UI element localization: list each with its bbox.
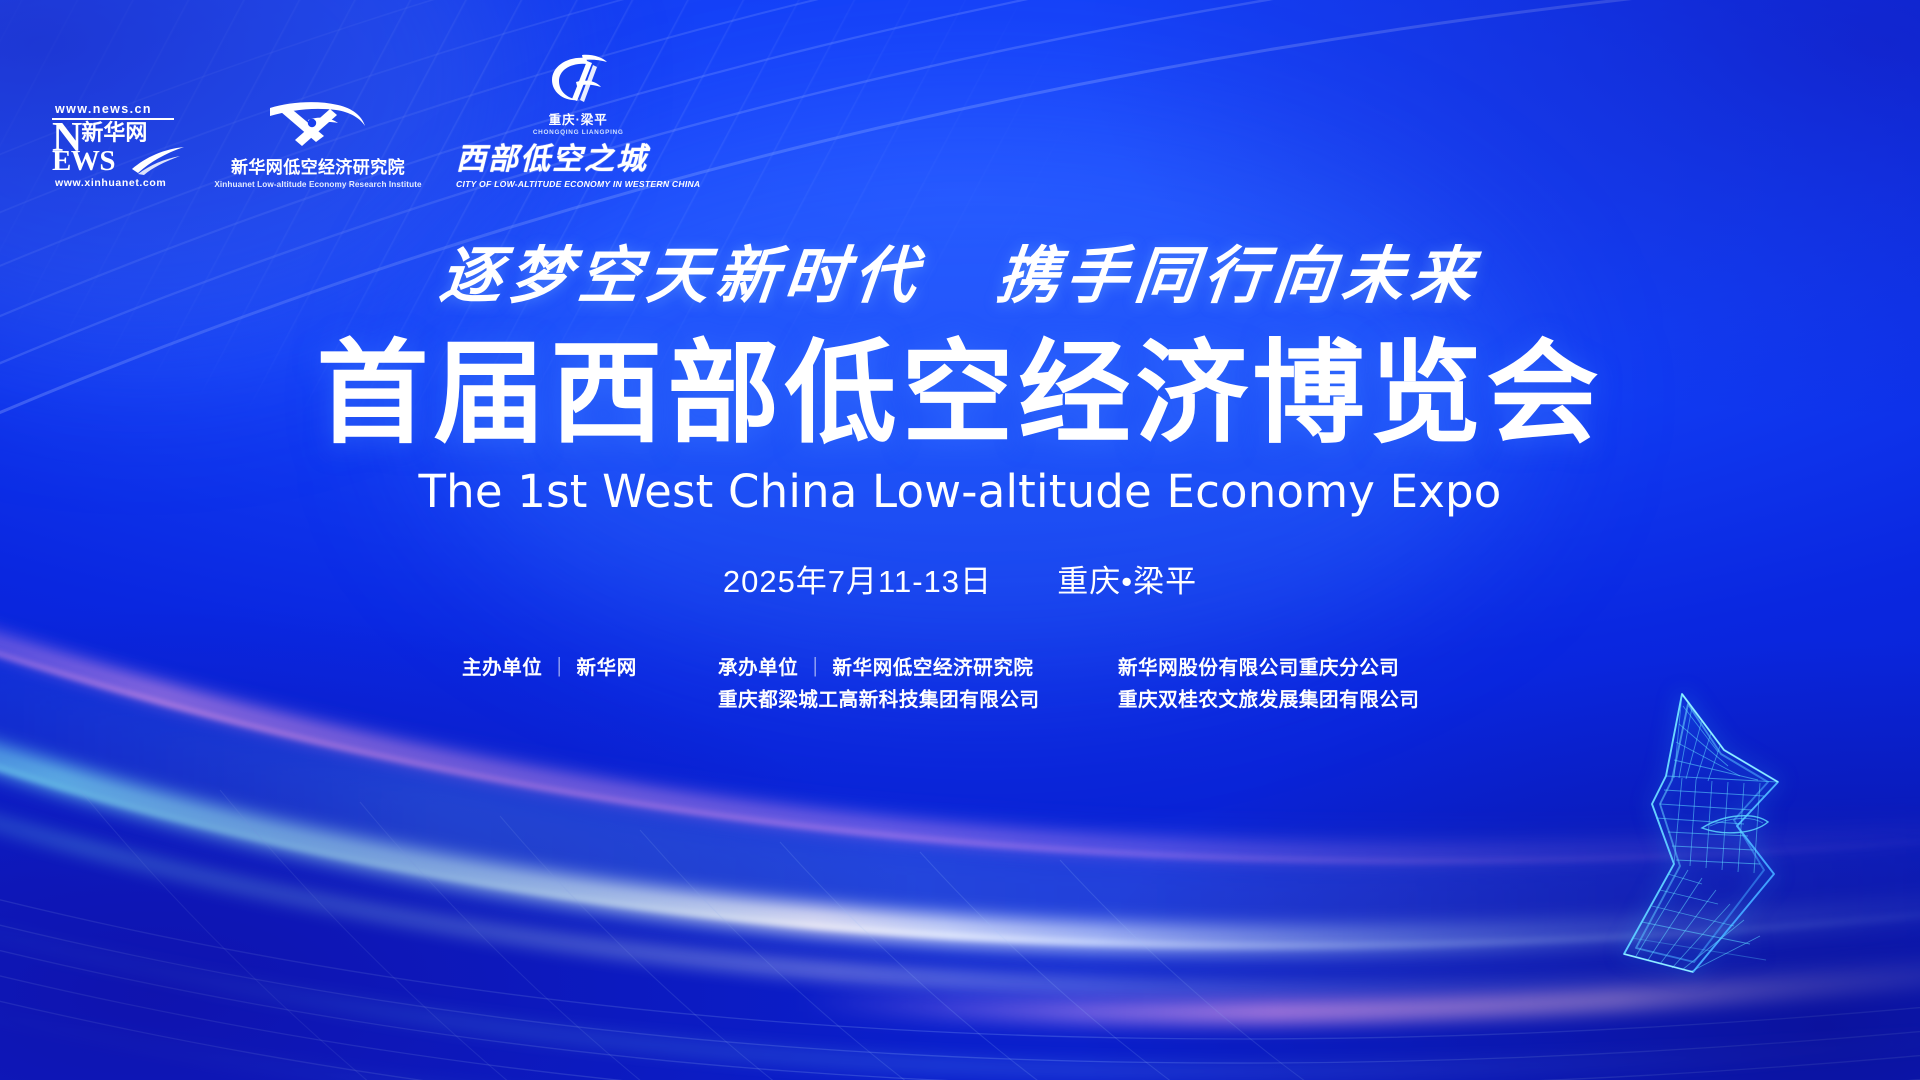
organizer-host-separator: ｜: [542, 657, 576, 679]
organizers-block: 主办单位｜新华网 承办单位｜新华网低空经济研究院 新华网股份有限公司重庆分公司 …: [0, 653, 1920, 716]
xinhuanet-url-bottom: www.xinhuanet.com: [52, 177, 166, 189]
organizer-coorg-role: 承办单位: [718, 657, 798, 679]
xinhuanet-url-top: www.news.cn: [52, 103, 152, 116]
organizer-host-role: 主办单位: [462, 657, 542, 679]
city-chongqing-en: CHONGQING LIANGPING: [533, 129, 624, 136]
xinhuanet-mark-word: EWS: [52, 149, 115, 174]
logo-research-institute[interactable]: 新华网低空经济研究院 Xinhuanet Low-altitude Econom…: [228, 96, 408, 189]
wireframe-aircraft-icon: [1578, 678, 1868, 1008]
tagline-left: 逐梦空天新时代: [437, 246, 927, 308]
organizers-row-2: 重庆都梁城工高新科技集团有限公司 重庆双桂农文旅发展集团有限公司: [0, 685, 1920, 717]
poster-canvas: www.news.cn N 新华网 EWS www.xinhuanet.com: [0, 0, 1920, 1080]
organizer-coorg-entity-2: 重庆都梁城工高新科技集团有限公司: [718, 685, 1118, 717]
organizer-coorg-separator: ｜: [798, 657, 832, 679]
tagline: 逐梦空天新时代 携手同行向未来: [0, 246, 1920, 308]
organizer-extra-2: 重庆双桂农文旅发展集团有限公司: [1118, 685, 1458, 717]
organizer-spacer: [462, 685, 718, 717]
research-institute-mark-icon: [264, 96, 372, 150]
event-location: 重庆•梁平: [1057, 564, 1197, 599]
organizer-coorganizer: 承办单位｜新华网低空经济研究院: [718, 653, 1118, 685]
city-title-en: CITY OF LOW-ALTITUDE ECONOMY IN WESTERN …: [456, 179, 700, 189]
event-subtitle-en: The 1st West China Low-altitude Economy …: [0, 465, 1920, 518]
organizer-host: 主办单位｜新华网: [462, 653, 718, 685]
logo-city-of-low-altitude[interactable]: 重庆·梁平 CHONGQING LIANGPING 西部低空之城 CITY OF…: [456, 52, 700, 189]
city-chongqing-cn: 重庆·梁平: [549, 109, 608, 128]
organizer-host-entity: 新华网: [577, 657, 637, 679]
event-date: 2025年7月11-13日: [723, 564, 992, 599]
xinhuanet-swoosh-icon: [130, 135, 186, 175]
city-swirl-icon: [546, 52, 610, 108]
research-institute-name-cn: 新华网低空经济研究院: [231, 153, 405, 178]
logo-bar: www.news.cn N 新华网 EWS www.xinhuanet.com: [52, 52, 700, 189]
organizer-extra-1: 新华网股份有限公司重庆分公司: [1118, 653, 1458, 685]
research-institute-name-en: Xinhuanet Low-altitude Economy Research …: [214, 180, 421, 189]
logo-xinhuanet[interactable]: www.news.cn N 新华网 EWS www.xinhuanet.com: [52, 103, 180, 189]
event-date-location: 2025年7月11-13日 重庆•梁平: [0, 556, 1920, 601]
organizer-coorg-entity-1: 新华网低空经济研究院: [833, 657, 1034, 679]
city-title-cn: 西部低空之城: [456, 145, 700, 175]
tagline-right: 携手同行向未来: [994, 246, 1484, 308]
organizers-row-1: 主办单位｜新华网 承办单位｜新华网低空经济研究院 新华网股份有限公司重庆分公司: [0, 653, 1920, 685]
event-headline: 首届西部低空经济博览会: [0, 334, 1920, 455]
